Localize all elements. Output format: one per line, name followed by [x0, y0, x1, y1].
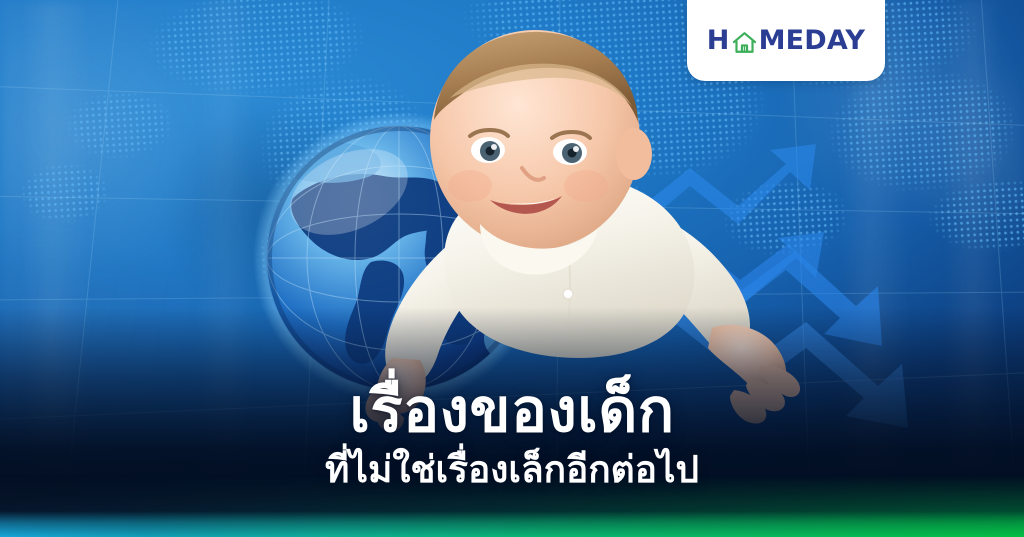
logo-text-before: H: [707, 27, 730, 54]
headline-block: เรื่องของเด็ก ที่ไม่ใช่เรื่องเล็กอีกต่อไ…: [0, 381, 1024, 490]
house-icon: [731, 29, 758, 56]
marketing-banner: H MEDAY เรื่องของเด็ก ที่ไม่ใช่เรื่องเล็…: [0, 0, 1024, 537]
logo-card[interactable]: H MEDAY: [687, 0, 885, 81]
homeday-logo: H MEDAY: [707, 27, 865, 54]
headline-line-1: เรื่องของเด็ก: [0, 381, 1024, 442]
headline-line-2: ที่ไม่ใช่เรื่องเล็กอีกต่อไป: [0, 449, 1024, 490]
bottom-accent-bar: [0, 511, 1024, 537]
logo-text-after: MEDAY: [759, 27, 866, 54]
